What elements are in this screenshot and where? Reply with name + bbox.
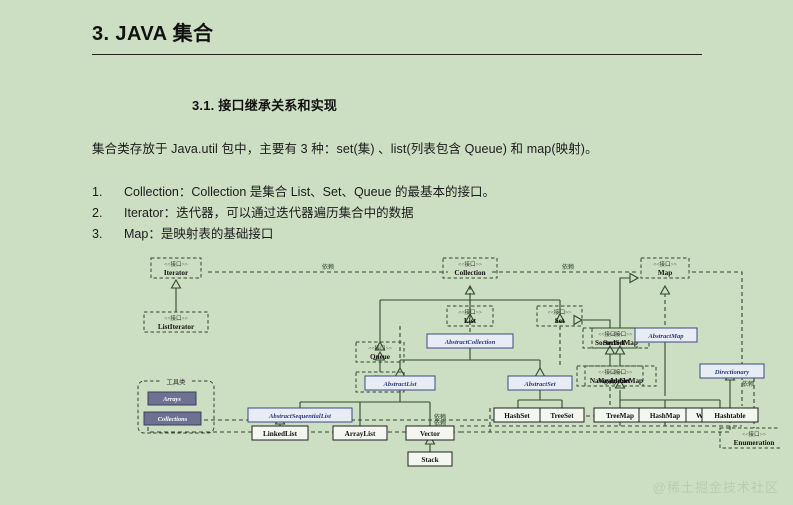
node-set-label: Set: [555, 317, 565, 325]
numbered-list: 1. Collection：Collection 是集合 List、Set、Qu…: [92, 182, 712, 245]
node-arraylist-label: ArrayList: [345, 430, 376, 438]
page-title: 3. JAVA 集合: [92, 22, 702, 47]
node-queue-label: Queue: [370, 353, 390, 361]
node-collection[interactable]: <<接口>> Collection: [443, 258, 497, 278]
node-queue-stereotype: <<接口>>: [368, 344, 392, 352]
uml-class-diagram: .ln { stroke:#2f4a2f; stroke-width:1.1; …: [130, 256, 780, 471]
arrow-open-sortedset-set: [574, 316, 582, 325]
node-sortedmap-label: SortedMap: [603, 339, 638, 347]
node-vector-label: Vector: [420, 430, 441, 438]
watermark: @稀土掘金技术社区: [653, 477, 779, 496]
arrow-open-listiterator: [172, 280, 181, 288]
node-navigablemap-stereotype: <<接口>>: [609, 368, 633, 376]
arrow-open-navigablemap: [616, 346, 625, 354]
list-item-number: 2.: [92, 203, 124, 224]
edge-label-dependency: 依赖: [742, 380, 754, 388]
node-collections-label: Collections: [158, 416, 188, 423]
node-hashtable[interactable]: Hashtable: [702, 408, 758, 422]
list-item: 3. Map：是映射表的基础接口: [92, 224, 712, 245]
list-item-number: 3.: [92, 224, 124, 245]
arrow-open-abstractset: [536, 368, 545, 376]
node-enumeration[interactable]: <<接口>> Enumeration: [720, 428, 780, 448]
node-hashmap-label: HashMap: [650, 412, 680, 420]
edge-map-right-bus: [692, 272, 742, 406]
node-treemap[interactable]: TreeMap: [594, 408, 646, 422]
node-navigablemap-label: NavigableMap: [598, 377, 643, 385]
node-stack[interactable]: Stack: [408, 452, 452, 466]
node-hashset-label: HashSet: [504, 412, 530, 420]
edge-label-dependency: 依赖: [562, 263, 574, 271]
node-abstractcollection-label: AbstractCollection: [444, 339, 496, 346]
utility-group-label: 工具类: [166, 377, 186, 386]
node-hashtable-label: Hashtable: [714, 412, 745, 420]
node-list-label: List: [464, 317, 477, 325]
node-list-stereotype: <<接口>>: [458, 308, 482, 316]
node-linkedlist[interactable]: LinkedList: [252, 426, 308, 440]
node-hashset[interactable]: HashSet: [494, 408, 540, 422]
node-map[interactable]: <<接口>> Map: [641, 258, 689, 278]
node-abstractmap-label: AbstractMap: [647, 333, 684, 340]
list-item-number: 1.: [92, 182, 124, 203]
node-abstractset-label: AbstractSet: [523, 381, 555, 388]
arrow-open-sortedmap-map: [630, 274, 638, 283]
node-enumeration-label: Enumeration: [734, 439, 775, 447]
node-directionary[interactable]: Directionary: [700, 364, 764, 378]
node-listiterator-label: ListIterator: [158, 323, 195, 331]
node-treeset-label: TreeSet: [550, 412, 574, 420]
arrow-open-navigableset: [606, 346, 615, 354]
page-title-block: 3. JAVA 集合: [92, 22, 702, 55]
node-map-stereotype: <<接口>>: [653, 260, 677, 268]
node-arrays-label: Arrays: [162, 396, 181, 403]
edge-label-dependency: 依赖: [322, 263, 334, 271]
edge-sortedset-set: [582, 320, 610, 328]
node-enumeration-stereotype: <<接口>>: [742, 430, 766, 438]
node-abstractsequentiallist-label: AbstractSequentialList: [268, 413, 331, 420]
node-directionary-label: Directionary: [714, 369, 750, 376]
node-iterator-stereotype: <<接口>>: [164, 260, 188, 268]
node-listiterator[interactable]: <<接口>> ListIterator: [144, 312, 208, 332]
title-divider: [92, 54, 702, 55]
node-abstractlist-label: AbstractList: [383, 381, 417, 388]
node-vector[interactable]: Vector: [406, 426, 454, 440]
utility-group-box: 工具类 Arrays Collections: [138, 377, 214, 433]
node-collection-stereotype: <<接口>>: [458, 260, 482, 268]
node-treemap-label: TreeMap: [606, 412, 634, 420]
node-iterator[interactable]: <<接口>> Iterator: [151, 258, 201, 278]
node-abstractmap[interactable]: AbstractMap: [635, 328, 697, 342]
document-page: 3. JAVA 集合 3.1. 接口继承关系和实现 集合类存放于 Java.ut…: [0, 0, 793, 505]
node-stack-label: Stack: [421, 456, 438, 464]
list-item: 2. Iterator：迭代器，可以通过迭代器遍历集合中的数据: [92, 203, 712, 224]
node-treeset[interactable]: TreeSet: [540, 408, 584, 422]
node-abstractcollection[interactable]: AbstractCollection: [427, 334, 513, 348]
node-abstractsequentiallist[interactable]: AbstractSequentialList: [248, 408, 352, 422]
node-collection-label: Collection: [454, 269, 485, 277]
list-item: 1. Collection：Collection 是集合 List、Set、Qu…: [92, 182, 712, 203]
list-item-text: Iterator：迭代器，可以通过迭代器遍历集合中的数据: [124, 203, 414, 224]
node-set-stereotype: <<接口>>: [548, 308, 572, 316]
node-listiterator-stereotype: <<接口>>: [164, 314, 188, 322]
node-abstractset[interactable]: AbstractSet: [508, 376, 572, 390]
list-item-text: Map：是映射表的基础接口: [124, 224, 273, 245]
arrow-open-abstractmap: [661, 286, 670, 294]
node-iterator-label: Iterator: [164, 269, 189, 277]
node-hashmap[interactable]: HashMap: [639, 408, 691, 422]
node-sortedmap-stereotype: <<接口>>: [609, 330, 633, 338]
node-linkedlist-label: LinkedList: [263, 430, 298, 438]
node-arraylist[interactable]: ArrayList: [333, 426, 387, 440]
node-abstractlist[interactable]: AbstractList: [365, 376, 435, 390]
intro-paragraph: 集合类存放于 Java.util 包中，主要有 3 种：set(集) 、list…: [92, 138, 598, 157]
list-item-text: Collection：Collection 是集合 List、Set、Queue…: [124, 182, 495, 203]
edge-sortedmap-map: [620, 278, 638, 328]
section-subtitle: 3.1. 接口继承关系和实现: [192, 95, 337, 114]
node-map-label: Map: [658, 269, 672, 277]
